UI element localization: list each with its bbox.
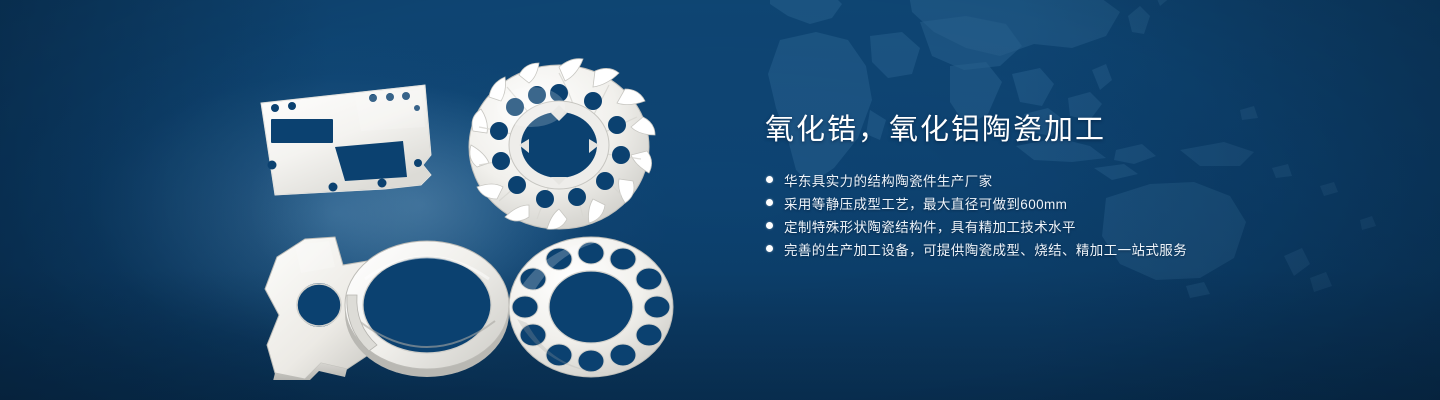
ceramic-perforated-disc (509, 237, 673, 377)
ceramic-ring-part (345, 241, 509, 377)
list-item-label: 华东具实力的结构陶瓷件生产厂家 (784, 170, 993, 190)
ceramic-products-image (235, 35, 705, 380)
bullet-dot-icon (766, 245, 773, 252)
page-title: 氧化锆，氧化铝陶瓷加工 (765, 110, 1385, 150)
banner-text-block: 氧化锆，氧化铝陶瓷加工 华东具实力的结构陶瓷件生产厂家 采用等静压成型工艺，最大… (765, 110, 1385, 260)
bullet-dot-icon (766, 222, 773, 229)
list-item-label: 采用等静压成型工艺，最大直径可做到600mm (784, 193, 1067, 213)
list-item-label: 定制特殊形状陶瓷结构件，具有精加工技术水平 (784, 216, 1076, 236)
bullet-dot-icon (766, 199, 773, 206)
list-item: 定制特殊形状陶瓷结构件，具有精加工技术水平 (765, 214, 1385, 237)
feature-list: 华东具实力的结构陶瓷件生产厂家 采用等静压成型工艺，最大直径可做到600mm 定… (765, 168, 1385, 260)
list-item: 完善的生产加工设备，可提供陶瓷成型、烧结、精加工一站式服务 (765, 237, 1385, 260)
hero-banner: 氧化锆，氧化铝陶瓷加工 华东具实力的结构陶瓷件生产厂家 采用等静压成型工艺，最大… (0, 0, 1440, 400)
list-item: 华东具实力的结构陶瓷件生产厂家 (765, 168, 1385, 191)
bullet-dot-icon (766, 176, 773, 183)
ceramic-impeller-part (469, 59, 655, 230)
ceramic-plate-part (261, 85, 431, 195)
list-item-label: 完善的生产加工设备，可提供陶瓷成型、烧结、精加工一站式服务 (784, 239, 1187, 259)
list-item: 采用等静压成型工艺，最大直径可做到600mm (765, 191, 1385, 214)
